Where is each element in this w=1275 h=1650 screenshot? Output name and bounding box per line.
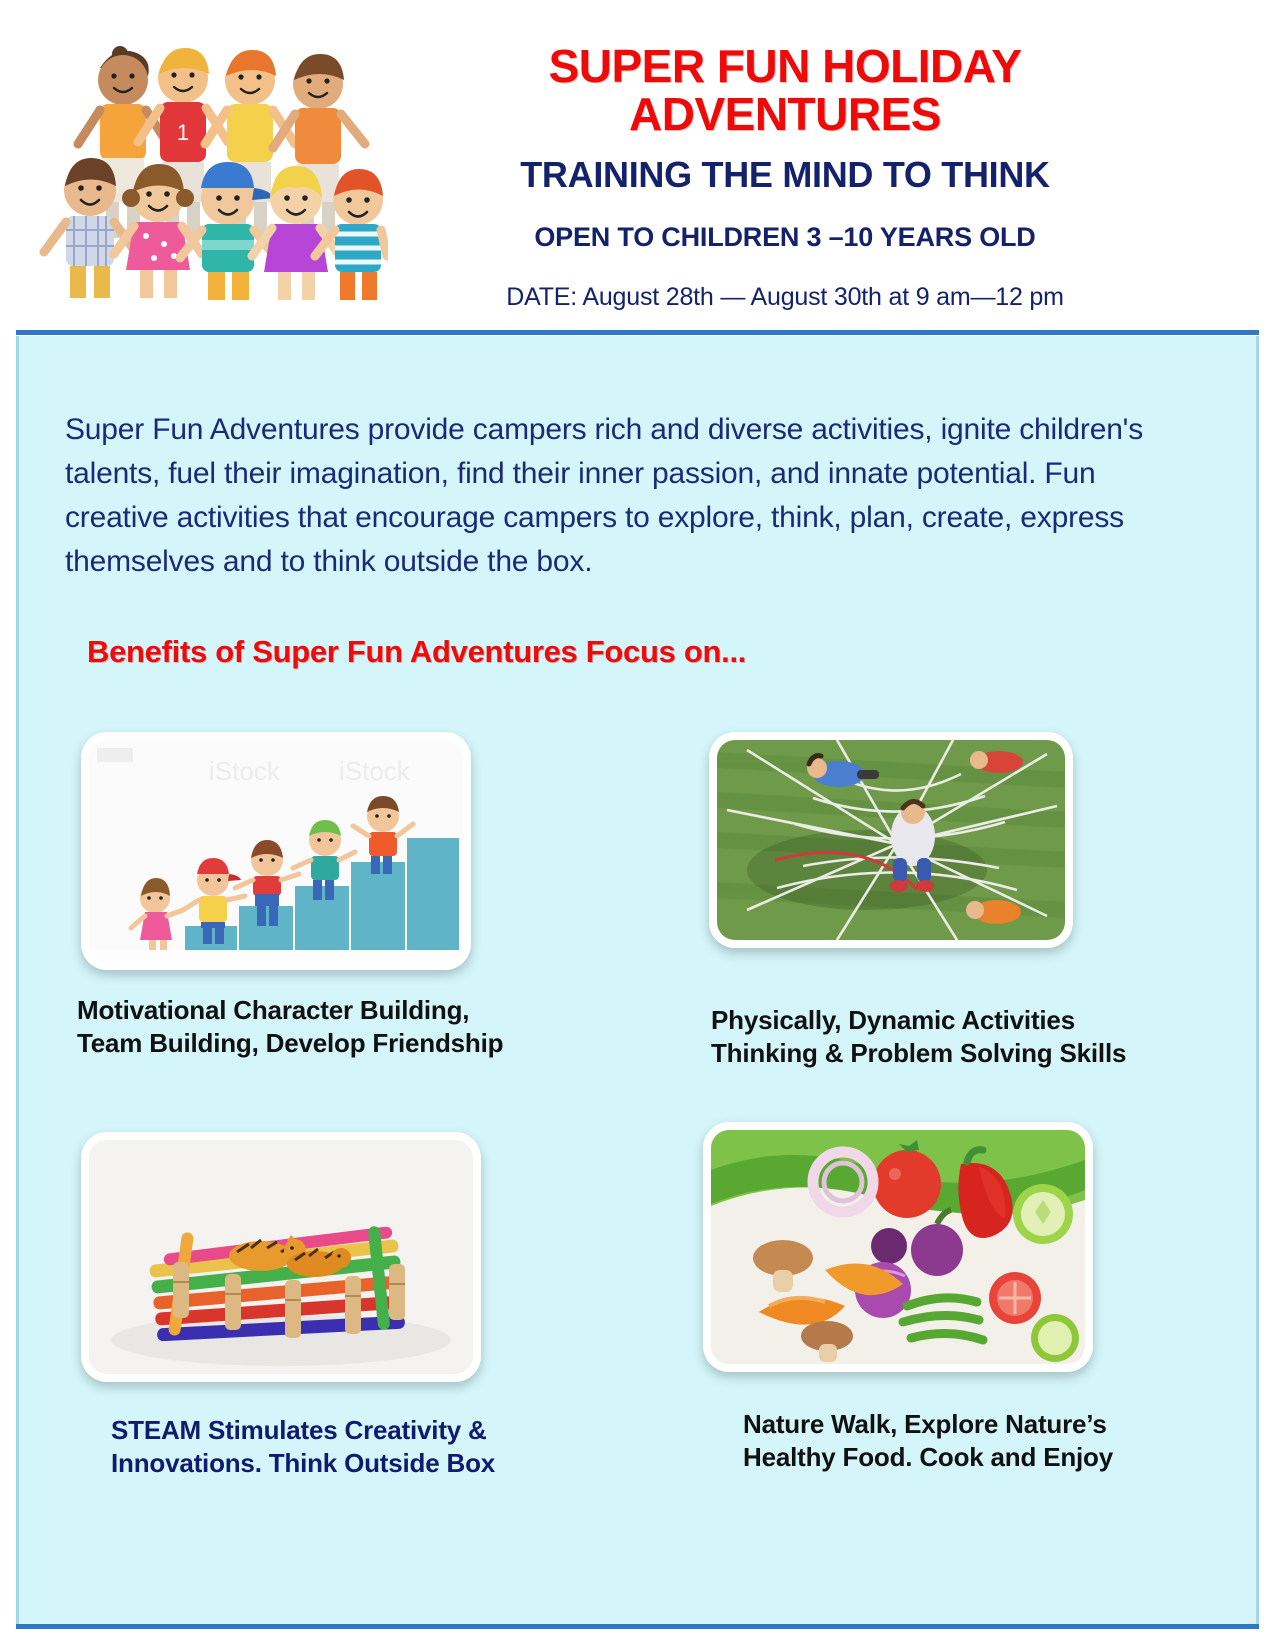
main-panel: Super Fun Adventures provide campers ric…	[16, 336, 1259, 1624]
benefit-caption-2: STEAM Stimulates Creativity & Innovation…	[111, 1414, 581, 1480]
svg-text:1: 1	[177, 120, 189, 145]
benefit-card-2: STEAM Stimulates Creativity & Innovation…	[81, 1132, 481, 1382]
fresh-vegetables-illustration	[703, 1122, 1093, 1372]
page-subtitle: TRAINING THE MIND TO THINK	[390, 155, 1180, 195]
svg-text:iStock: iStock	[209, 756, 281, 786]
flyer-page: 1	[0, 0, 1275, 1650]
children-on-rope-web-photo	[709, 732, 1073, 948]
benefit-card-0: iStock iStock	[81, 732, 471, 970]
age-range-line: OPEN TO CHILDREN 3 –10 YEARS OLD	[390, 222, 1180, 253]
svg-text:iStock: iStock	[339, 756, 411, 786]
date-line: DATE: August 28th — August 30th at 9 am—…	[390, 283, 1180, 312]
benefit-card-3: Nature Walk, Explore Nature’s Healthy Fo…	[703, 1122, 1093, 1372]
intro-paragraph: Super Fun Adventures provide campers ric…	[65, 408, 1175, 584]
benefit-caption-3: Nature Walk, Explore Nature’s Healthy Fo…	[743, 1408, 1183, 1474]
footer-divider	[16, 1624, 1259, 1629]
header-divider	[16, 330, 1259, 335]
benefit-caption-1: Physically, Dynamic Activities Thinking …	[711, 1004, 1181, 1070]
group-of-children-illustration: 1	[28, 18, 388, 308]
page-title: SUPER FUN HOLIDAY ADVENTURES	[390, 42, 1180, 139]
flyer-header: 1	[0, 0, 1275, 330]
benefit-caption-0: Motivational Character Building, Team Bu…	[77, 994, 597, 1060]
benefits-heading: Benefits of Super Fun Adventures Focus o…	[87, 634, 746, 670]
kids-climbing-steps-illustration: iStock iStock	[81, 732, 471, 970]
craft-sticks-tiger-enclosure-photo	[81, 1132, 481, 1382]
header-text-block: SUPER FUN HOLIDAY ADVENTURES TRAINING TH…	[390, 42, 1180, 312]
benefit-card-1: Physically, Dynamic Activities Thinking …	[709, 732, 1073, 948]
